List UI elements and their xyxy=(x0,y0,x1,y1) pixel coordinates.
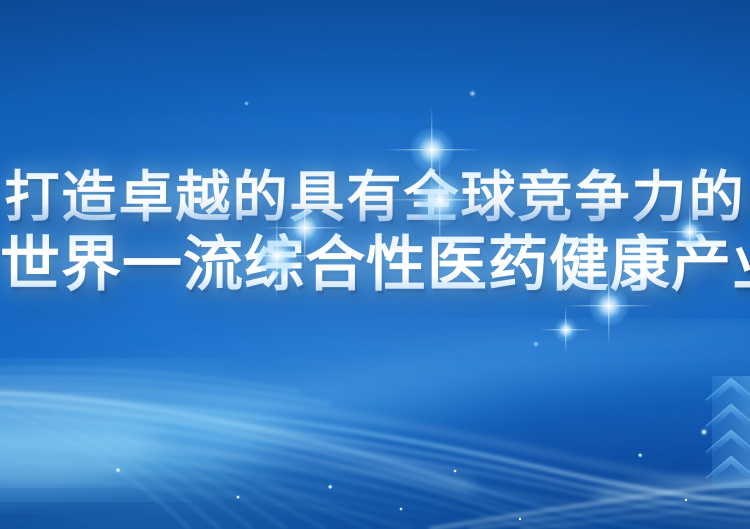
headline-block: 打造卓越的具有全球竞争力的 世界一流综合性医药健康产业集团 xyxy=(0,168,750,298)
hero-banner: 打造卓越的具有全球竞争力的 世界一流综合性医药健康产业集团 xyxy=(0,0,750,529)
headline-line-2: 世界一流综合性医药健康产业集团 xyxy=(0,233,750,298)
headline-line-1: 打造卓越的具有全球竞争力的 xyxy=(0,168,750,227)
